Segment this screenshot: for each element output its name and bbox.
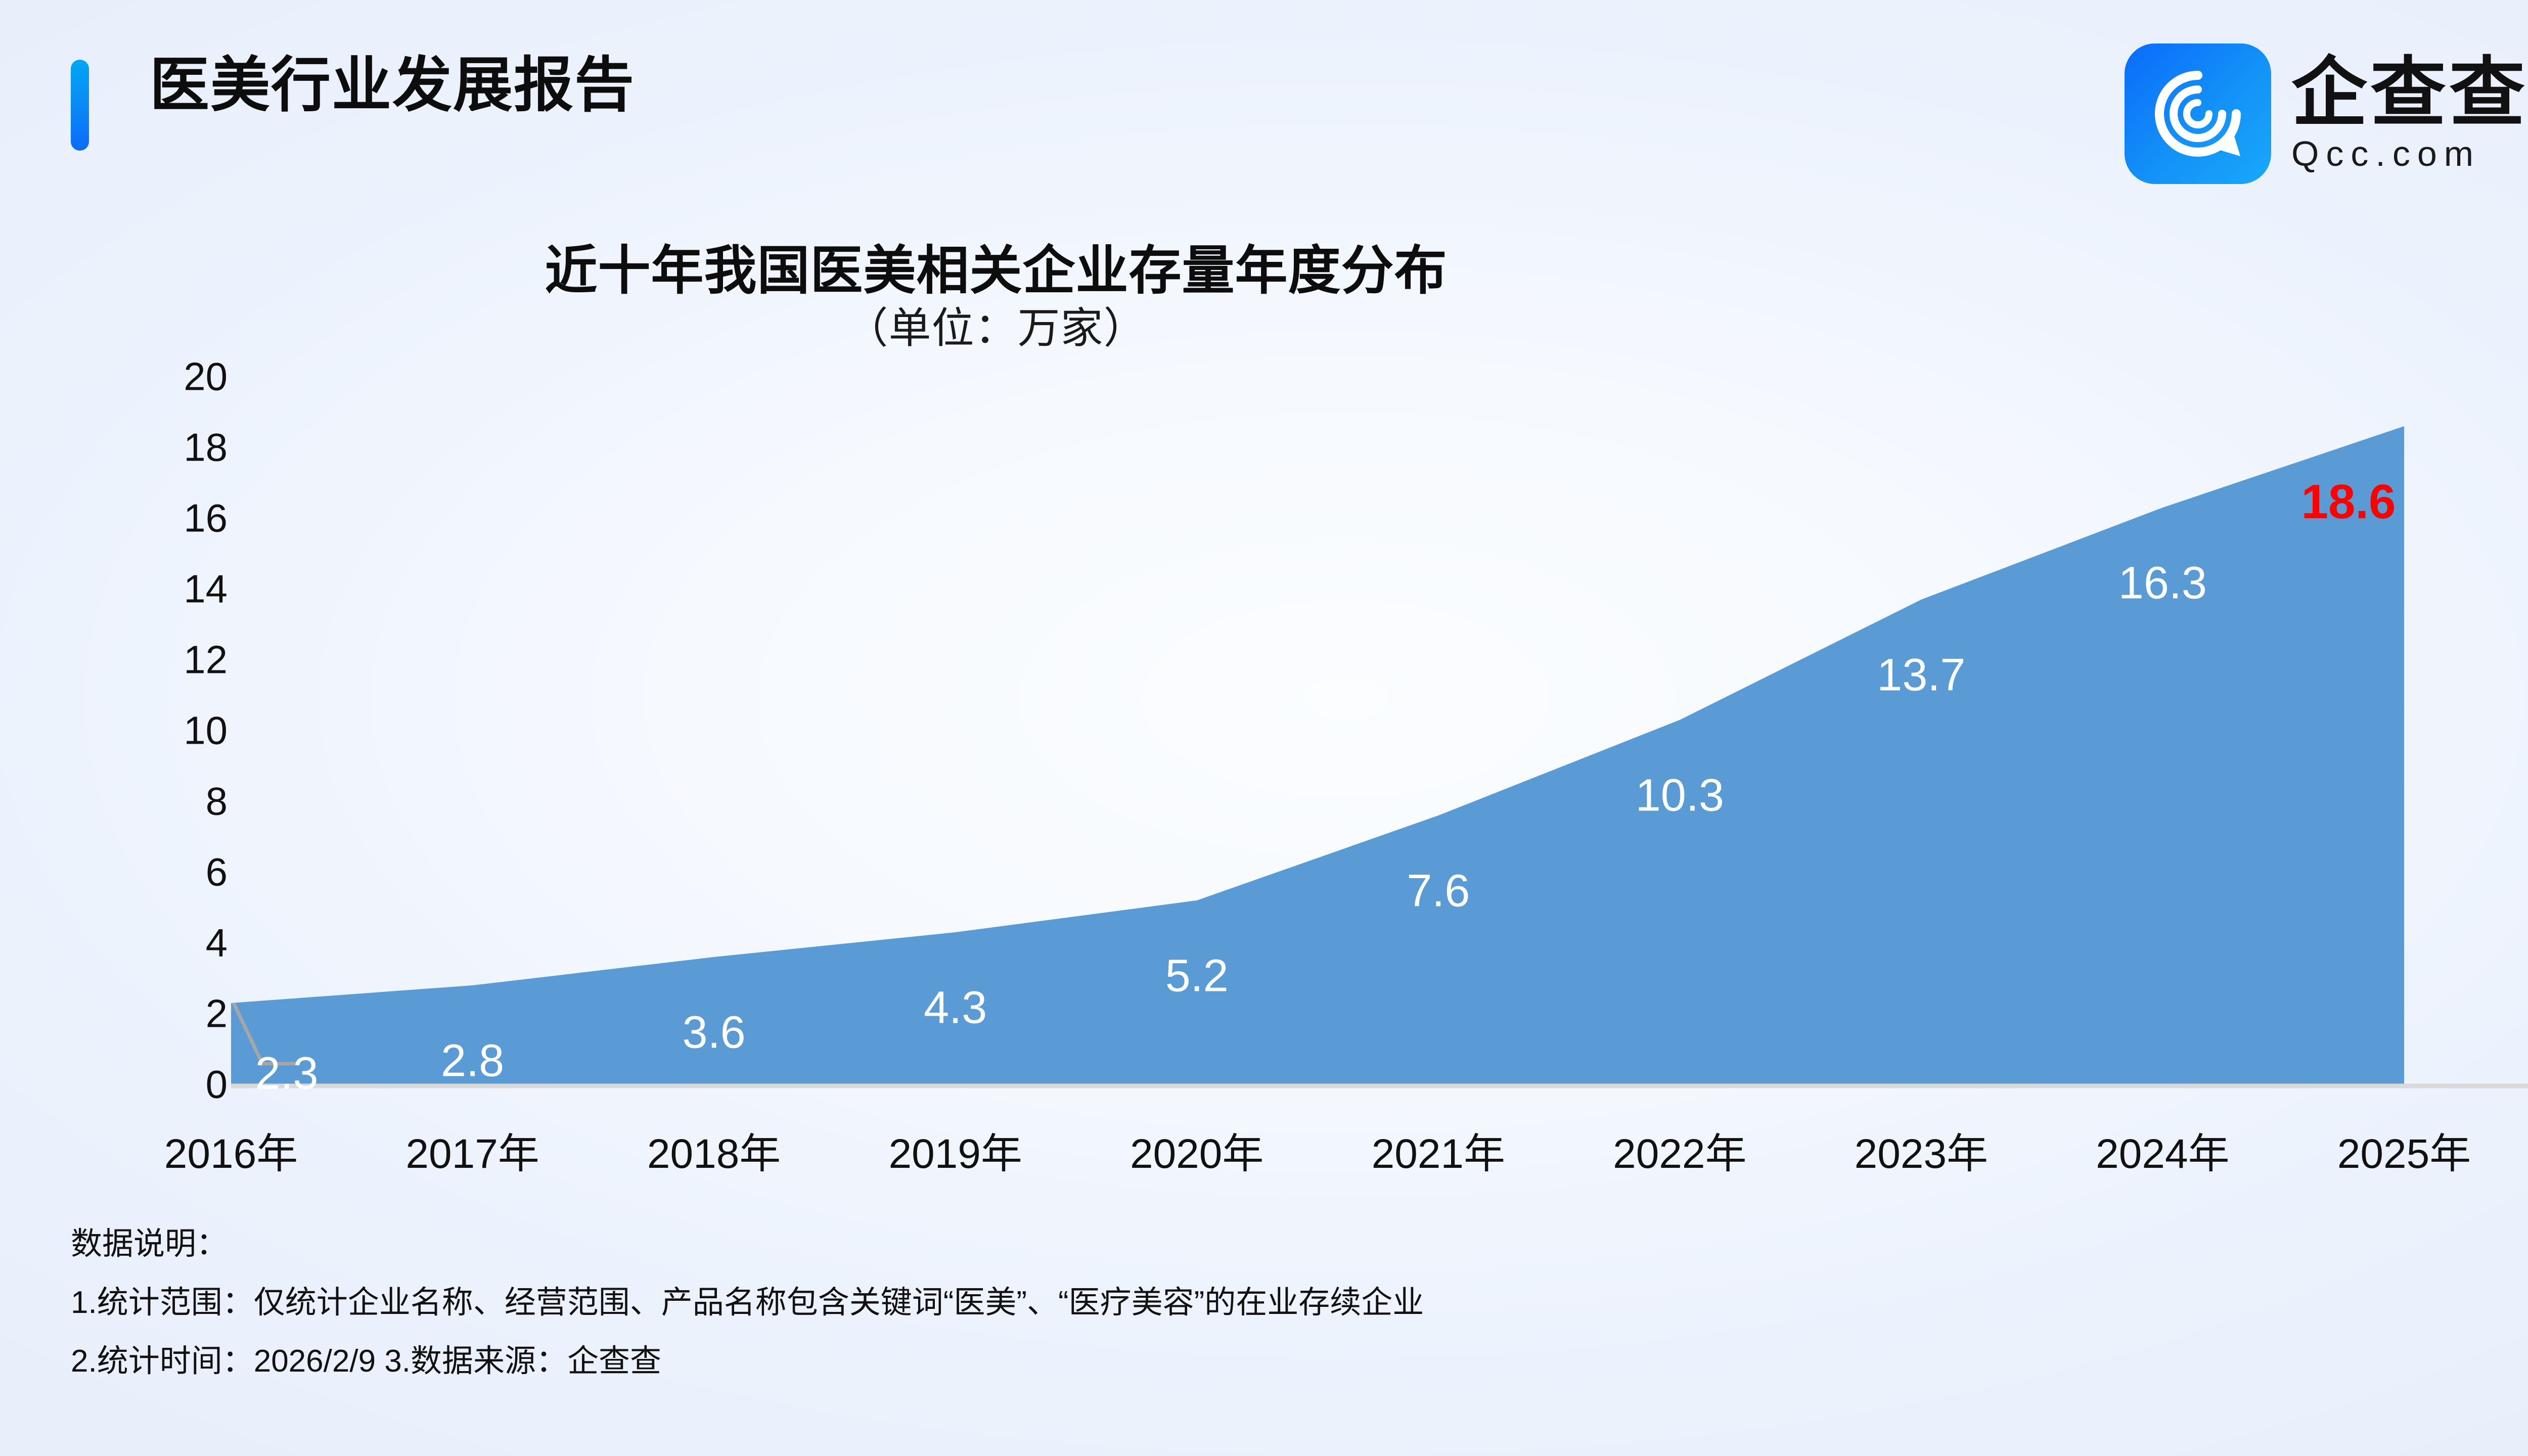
data-label: 3.6 [683, 1007, 746, 1059]
page-title: 医美行业发展报告 [150, 56, 635, 115]
y-axis-tick: 10 [184, 708, 228, 754]
brand-text: 企查查 Qcc.com [2291, 54, 2528, 173]
footnote-scope: 1.统计范围：仅统计企业名称、经营范围、产品名称包含关键词“医美”、“医疗美容”… [71, 1287, 2447, 1318]
x-axis-tick: 2017年 [405, 1120, 539, 1180]
data-label: 2.8 [441, 1035, 504, 1087]
x-axis-tick: 2024年 [2096, 1120, 2229, 1180]
brand-logo: 企查查 Qcc.com [2125, 43, 2528, 184]
brand-name-en: Qcc.com [2291, 134, 2528, 173]
data-label: 7.6 [1407, 866, 1470, 918]
x-axis-tick: 2019年 [888, 1120, 1022, 1180]
chart-title: 近十年我国医美相关企业存量年度分布 [0, 227, 1992, 304]
y-axis-tick: 18 [184, 425, 228, 471]
data-label: 16.3 [2118, 558, 2207, 610]
footer-notes: 数据说明： 1.统计范围：仅统计企业名称、经营范围、产品名称包含关键词“医美”、… [71, 1228, 2447, 1377]
footnote-time-source: 2.统计时间：2026/2/9 3.数据来源：企查查 [71, 1346, 2447, 1377]
qcc-spiral-logo-icon [2125, 43, 2271, 184]
brand-name-cn: 企查查 [2291, 54, 2528, 131]
data-label: 13.7 [1877, 650, 1965, 702]
chart-subtitle: （单位：万家） [0, 294, 1992, 355]
x-axis-tick: 2025年 [2337, 1120, 2471, 1180]
x-axis-tick: 2020年 [1130, 1120, 1263, 1180]
y-axis-tick: 16 [184, 495, 228, 541]
data-label: 2.3 [255, 1048, 318, 1100]
y-axis-tick: 2 [206, 991, 228, 1037]
y-axis-tick: 4 [206, 920, 228, 966]
y-axis-tick: 14 [184, 566, 228, 612]
x-axis-tick: 2021年 [1372, 1120, 1505, 1180]
x-axis-tick: 2023年 [1855, 1120, 1988, 1180]
page-header: 医美行业发展报告 企查查 Qcc.com [0, 0, 2528, 202]
page-root: 医美行业发展报告 企查查 Qcc.com 近十年我国医美相关企业存量年度分布 （… [0, 0, 2528, 1456]
accent-bar-icon [71, 60, 89, 151]
y-axis-tick: 6 [206, 849, 228, 895]
x-axis-tick: 2022年 [1613, 1120, 1746, 1180]
y-axis-tick: 0 [206, 1062, 228, 1108]
area-series-shape [231, 426, 2404, 1084]
x-axis-tick: 2016年 [164, 1120, 298, 1180]
x-axis-tick: 2018年 [647, 1120, 781, 1180]
data-label: 10.3 [1636, 770, 1724, 822]
y-axis-tick: 12 [184, 637, 228, 683]
data-label: 4.3 [924, 982, 987, 1034]
y-axis-tick: 8 [206, 779, 228, 825]
data-label: 18.6 [2301, 474, 2396, 530]
footnote-heading: 数据说明： [71, 1228, 2447, 1260]
data-label: 5.2 [1165, 950, 1229, 1003]
y-axis-tick: 20 [184, 354, 228, 400]
